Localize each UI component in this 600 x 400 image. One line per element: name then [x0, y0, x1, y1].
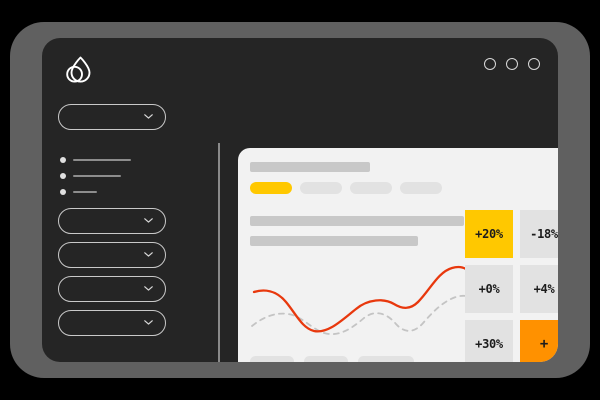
stat-tile-3[interactable]: +0%: [465, 265, 513, 313]
stat-tile-grid: +20% -18% +0% +4% +30% +: [465, 210, 558, 362]
trend-chart: [244, 256, 476, 348]
stat-tile-4[interactable]: +4%: [520, 265, 558, 313]
list-item-label: [73, 159, 131, 161]
footer-pill-1[interactable]: [250, 356, 294, 362]
add-stat-button[interactable]: +: [520, 320, 558, 362]
content-card: +20% -18% +0% +4% +30% +: [238, 148, 558, 362]
sidebar-divider: [218, 143, 220, 362]
footer-pill-2[interactable]: [304, 356, 348, 362]
droplet-leaf-logo-icon: [60, 51, 98, 89]
sidebar: [42, 98, 176, 362]
chevron-down-icon: [144, 114, 153, 119]
sidebar-dropdown-4[interactable]: [58, 276, 166, 302]
text-line: [250, 216, 464, 226]
window-control-close[interactable]: [528, 58, 540, 70]
footer-pill-3[interactable]: [358, 356, 414, 362]
chevron-down-icon: [144, 286, 153, 291]
bullet-dot-icon: [60, 157, 66, 163]
bullet-dot-icon: [60, 173, 66, 179]
chevron-down-icon: [144, 320, 153, 325]
footer-pill-row: [250, 356, 414, 362]
text-line: [250, 236, 418, 246]
list-item[interactable]: [60, 170, 170, 182]
bullet-dot-icon: [60, 189, 66, 195]
sidebar-list: [60, 154, 170, 202]
window-controls: [484, 58, 540, 70]
tab-4[interactable]: [400, 182, 442, 194]
list-item[interactable]: [60, 154, 170, 166]
stat-tile-5[interactable]: +30%: [465, 320, 513, 362]
tab-3[interactable]: [350, 182, 392, 194]
screenshot-scene: +20% -18% +0% +4% +30% +: [0, 0, 600, 400]
chevron-down-icon: [144, 218, 153, 223]
sidebar-dropdown-3[interactable]: [58, 242, 166, 268]
stat-tile-2[interactable]: -18%: [520, 210, 558, 258]
app-window: +20% -18% +0% +4% +30% +: [42, 38, 558, 362]
chevron-down-icon: [144, 252, 153, 257]
sidebar-dropdown-2[interactable]: [58, 208, 166, 234]
text-block: [250, 216, 464, 256]
page-title: [250, 162, 370, 172]
list-item-label: [73, 175, 121, 177]
tab-2[interactable]: [300, 182, 342, 194]
tab-bar: [250, 182, 442, 194]
window-control-minimize[interactable]: [484, 58, 496, 70]
stat-tile-1[interactable]: +20%: [465, 210, 513, 258]
window-titlebar: [42, 38, 558, 98]
sidebar-dropdown-5[interactable]: [58, 310, 166, 336]
sidebar-dropdown-1[interactable]: [58, 104, 166, 130]
tab-1[interactable]: [250, 182, 292, 194]
window-control-maximize[interactable]: [506, 58, 518, 70]
list-item[interactable]: [60, 186, 170, 198]
list-item-label: [73, 191, 97, 193]
chart-series-primary: [254, 267, 472, 331]
